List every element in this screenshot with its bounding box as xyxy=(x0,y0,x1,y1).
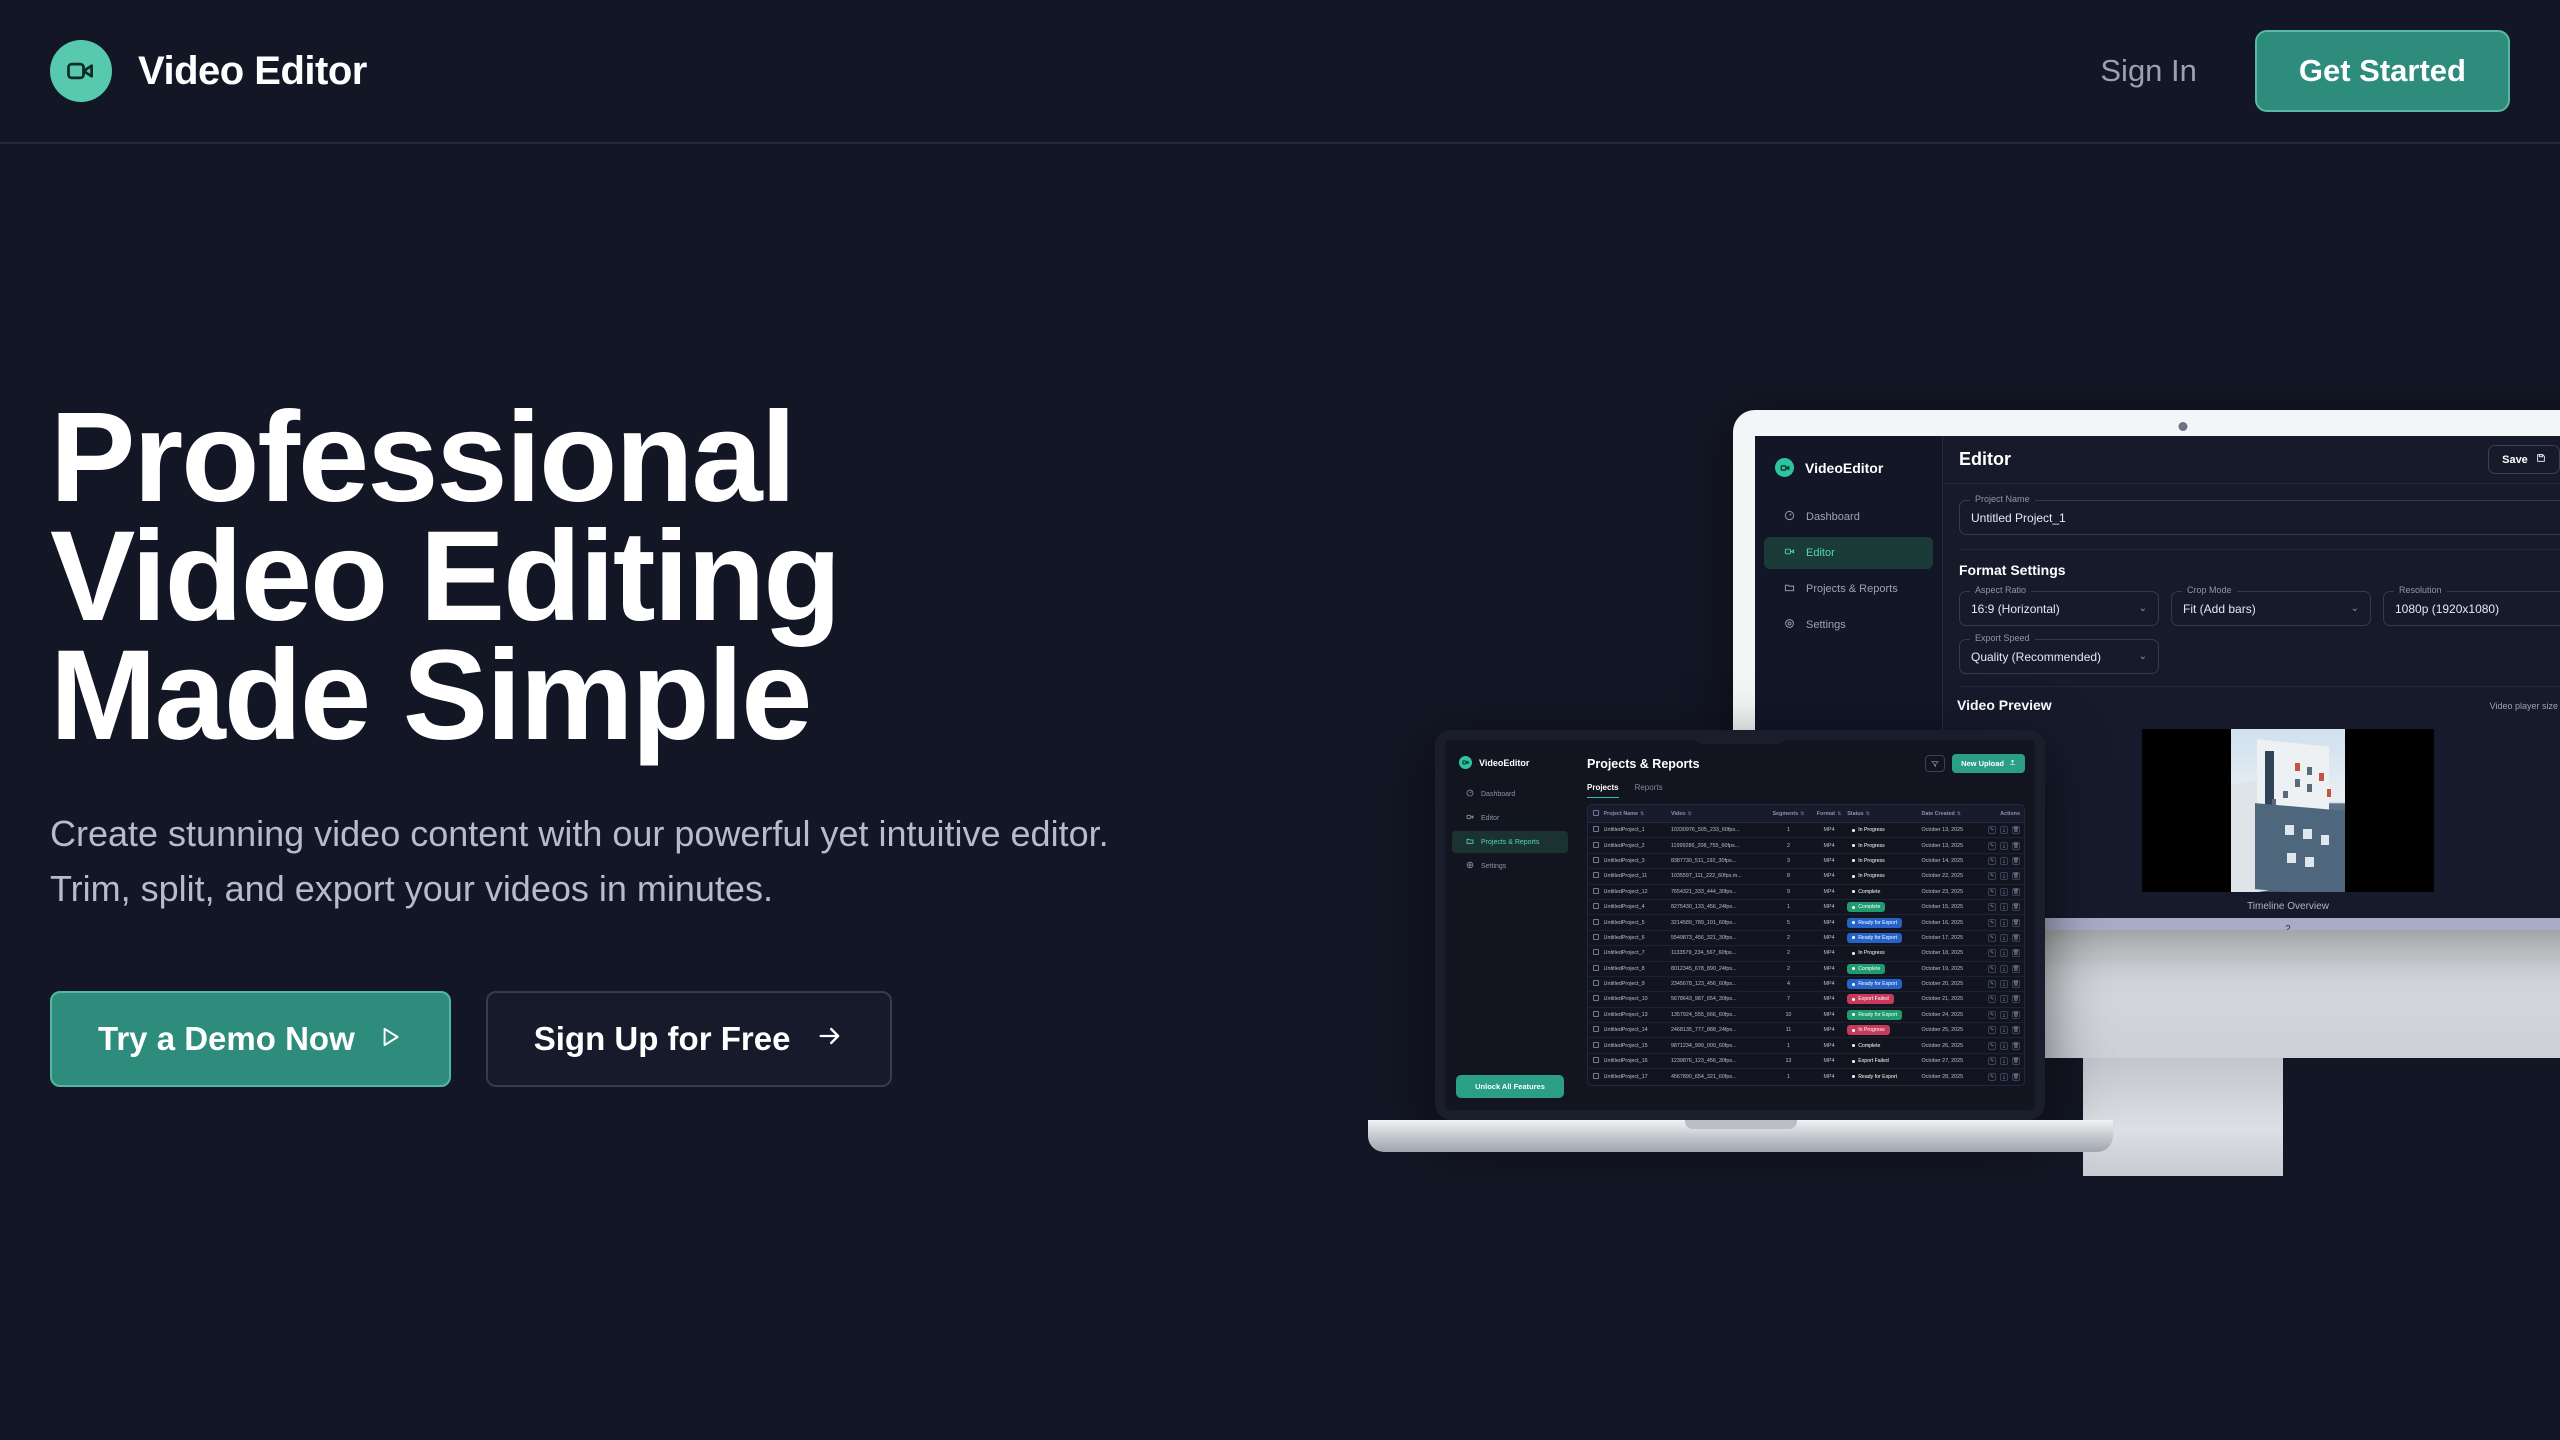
download-icon[interactable]: ⤓ xyxy=(2000,949,2008,957)
cell-segments: 10 xyxy=(1766,1012,1811,1018)
folder-icon xyxy=(1784,582,1795,596)
cell-segments: 1 xyxy=(1766,904,1811,910)
row-checkbox[interactable] xyxy=(1588,965,1604,973)
cell-format: MP4 xyxy=(1811,904,1847,910)
row-checkbox[interactable] xyxy=(1588,842,1604,850)
edit-icon[interactable]: ✎ xyxy=(1988,1026,1996,1034)
cell-project-name: UntitledProject_14 xyxy=(1604,1027,1671,1033)
aspect-ratio-value: 16:9 (Horizontal) xyxy=(1971,602,2060,616)
cell-format: MP4 xyxy=(1811,920,1847,926)
export-speed-select[interactable]: Export Speed Quality (Recommended) ⌄ xyxy=(1959,639,2159,674)
download-icon[interactable]: ⤓ xyxy=(2000,965,2008,973)
status-badge: In Progress xyxy=(1847,825,1890,835)
column-header-segments: Segments xyxy=(1772,811,1798,817)
hero-title-line-3: Made Simple xyxy=(50,636,1150,755)
edit-icon[interactable]: ✎ xyxy=(1988,965,1996,973)
brand-logo[interactable]: Video Editor xyxy=(50,40,367,102)
projects-sidebar: VideoEditor Dashboard Editor Projects & … xyxy=(1445,740,1575,1110)
cell-segments: 9 xyxy=(1766,889,1811,895)
divider xyxy=(1959,686,2560,687)
status-badge: In Progress xyxy=(1847,856,1890,866)
projects-header-actions: New Upload xyxy=(1925,754,2025,773)
status-badge: Ready for Export xyxy=(1847,1010,1902,1020)
table-row[interactable]: UntitledProject_161239876_123_456_30fps.… xyxy=(1588,1054,2024,1069)
row-checkbox[interactable] xyxy=(1588,949,1604,957)
status-badge: Ready for Export xyxy=(1847,918,1902,928)
editor-nav: Dashboard Editor Projects & Reports xyxy=(1755,501,1942,641)
cell-status: Ready for Export xyxy=(1847,1072,1921,1082)
cell-actions: ✎⤓🗑 xyxy=(1982,1042,2024,1050)
hero-actions: Try a Demo Now Sign Up for Free xyxy=(50,991,1150,1087)
download-icon[interactable]: ⤓ xyxy=(2000,826,2008,834)
edit-icon[interactable]: ✎ xyxy=(1988,826,1996,834)
get-started-button[interactable]: Get Started xyxy=(2255,30,2510,112)
column-header-project-name: Project Name xyxy=(1604,811,1638,817)
editor-page-title: Editor xyxy=(1959,449,2011,470)
unlock-all-features-button[interactable]: Unlock All Features xyxy=(1456,1075,1564,1098)
save-label: Save xyxy=(2502,454,2528,466)
projects-page-title: Projects & Reports xyxy=(1587,757,1700,771)
select-all-checkbox[interactable] xyxy=(1588,810,1604,818)
cell-project-name: UntitledProject_3 xyxy=(1604,858,1671,864)
row-checkbox[interactable] xyxy=(1588,1011,1604,1019)
sign-up-label: Sign Up for Free xyxy=(534,1020,791,1058)
status-badge: Ready for Export xyxy=(1847,979,1902,989)
timeline-overview-label: Timeline Overview xyxy=(1957,901,2560,912)
trash-icon[interactable]: 🗑 xyxy=(2012,1042,2020,1050)
cell-video: 9871234_999_000_60fps... xyxy=(1671,1043,1766,1049)
cell-status: Ready for Export xyxy=(1847,933,1921,943)
status-badge: Export Failed xyxy=(1847,994,1894,1004)
export-speed-label: Export Speed xyxy=(1970,633,2035,643)
table-row[interactable]: UntitledProject_174567890_654_321_60fps.… xyxy=(1588,1069,2024,1084)
cell-video: 3214589_789_101_60fps... xyxy=(1671,920,1766,926)
sidebar-item-editor[interactable]: Editor xyxy=(1452,807,1568,829)
sidebar-label: Settings xyxy=(1481,863,1506,870)
cell-project-name: UntitledProject_9 xyxy=(1604,981,1671,987)
cell-format: MP4 xyxy=(1811,889,1847,895)
table-row[interactable]: UntitledProject_110330976_505_233_60fps.… xyxy=(1588,823,2024,838)
trash-icon[interactable]: 🗑 xyxy=(2012,934,2020,942)
laptop-base-notch xyxy=(1685,1120,1797,1129)
editor-brand: VideoEditor xyxy=(1755,436,1942,477)
hero-title-line-1: Professional xyxy=(50,398,1150,517)
sidebar-label: Projects & Reports xyxy=(1806,583,1898,595)
cell-format: MP4 xyxy=(1811,1074,1847,1080)
cell-actions: ✎⤓🗑 xyxy=(1982,857,2024,865)
edit-icon[interactable]: ✎ xyxy=(1988,857,1996,865)
video-camera-icon xyxy=(1459,756,1472,769)
trash-icon[interactable]: 🗑 xyxy=(2012,949,2020,957)
status-badge: Export Failed xyxy=(1847,1056,1894,1066)
trash-icon[interactable]: 🗑 xyxy=(2012,857,2020,865)
cell-video: 8387730_511_192_30fps... xyxy=(1671,858,1766,864)
cell-date-created: October 13, 2025 xyxy=(1921,843,1981,849)
table-row[interactable]: UntitledProject_88012345_678_890_24fps..… xyxy=(1588,962,2024,977)
column-header-actions: Actions xyxy=(1982,811,2024,817)
download-icon[interactable]: ⤓ xyxy=(2000,934,2008,942)
player-size-slider[interactable]: Video player size xyxy=(2490,701,2560,711)
trash-icon[interactable]: 🗑 xyxy=(2012,980,2020,988)
download-icon[interactable]: ⤓ xyxy=(2000,1042,2008,1050)
cell-date-created: October 14, 2025 xyxy=(1921,858,1981,864)
project-name-value: Untitled Project_1 xyxy=(1971,511,2066,525)
edit-icon[interactable]: ✎ xyxy=(1988,888,1996,896)
cell-status: Ready for Export xyxy=(1847,979,1921,989)
cell-segments: 1 xyxy=(1766,1074,1811,1080)
cell-actions: ✎⤓🗑 xyxy=(1982,995,2024,1003)
cell-status: Complete xyxy=(1847,1041,1921,1051)
cell-date-created: October 15, 2025 xyxy=(1921,904,1981,910)
sidebar-item-projects-reports[interactable]: Projects & Reports xyxy=(1764,573,1933,605)
status-badge: Ready for Export xyxy=(1847,933,1902,943)
cell-format: MP4 xyxy=(1811,858,1847,864)
cell-segments: 2 xyxy=(1766,843,1811,849)
video-camera-icon xyxy=(50,40,112,102)
row-checkbox[interactable] xyxy=(1588,872,1604,880)
header-nav: Sign In Get Started xyxy=(2100,30,2510,112)
row-checkbox[interactable] xyxy=(1588,919,1604,927)
row-checkbox[interactable] xyxy=(1588,934,1604,942)
try-demo-button[interactable]: Try a Demo Now xyxy=(50,991,451,1087)
play-triangle-icon xyxy=(377,1020,403,1058)
status-badge: In Progress xyxy=(1847,948,1890,958)
cell-video: 1035597_111_222_60fps.m... xyxy=(1671,873,1766,879)
cell-segments: 2 xyxy=(1766,935,1811,941)
tab-reports[interactable]: Reports xyxy=(1635,783,1663,798)
cell-actions: ✎⤓🗑 xyxy=(1982,965,2024,973)
video-player[interactable] xyxy=(2142,729,2434,892)
table-row[interactable]: UntitledProject_111035597_111_222_60fps.… xyxy=(1588,869,2024,884)
projects-brand: VideoEditor xyxy=(1445,740,1575,769)
cell-date-created: October 18, 2025 xyxy=(1921,950,1981,956)
crop-mode-select[interactable]: Crop Mode Fit (Add bars) ⌄ xyxy=(2171,591,2371,626)
cell-project-name: UntitledProject_4 xyxy=(1604,904,1671,910)
sidebar-label: Editor xyxy=(1806,547,1835,559)
trash-icon[interactable]: 🗑 xyxy=(2012,1026,2020,1034)
video-frame-thumbnail xyxy=(2231,729,2345,892)
table-row[interactable]: UntitledProject_131357924_555_666_60fps.… xyxy=(1588,1008,2024,1023)
projects-table: Project Name⇅ Video⇅ Segments⇅ Format⇅ S… xyxy=(1587,804,2025,1086)
page-title: Professional Video Editing Made Simple xyxy=(50,398,1150,755)
table-row[interactable]: UntitledProject_71133579_234_567_60fps..… xyxy=(1588,946,2024,961)
column-header-video: Video xyxy=(1671,811,1686,817)
cell-date-created: October 21, 2025 xyxy=(1921,996,1981,1002)
projects-main: Projects & Reports New Upload Projects R… xyxy=(1575,740,2035,1110)
chevron-down-icon: ⌄ xyxy=(2139,651,2147,662)
cell-status: Ready for Export xyxy=(1847,1010,1921,1020)
table-row[interactable]: UntitledProject_38387730_511_192_30fps..… xyxy=(1588,854,2024,869)
row-checkbox[interactable] xyxy=(1588,826,1604,834)
cell-date-created: October 20, 2025 xyxy=(1921,981,1981,987)
cell-date-created: October 19, 2025 xyxy=(1921,966,1981,972)
cell-status: In Progress xyxy=(1847,1025,1921,1035)
cell-actions: ✎⤓🗑 xyxy=(1982,826,2024,834)
cell-video: 8275430_133_456_24fps... xyxy=(1671,904,1766,910)
laptop-mockup: VideoEditor Dashboard Editor Projects & … xyxy=(1435,730,2045,1120)
cell-actions: ✎⤓🗑 xyxy=(1982,1011,2024,1019)
arrow-right-icon xyxy=(816,1020,844,1058)
sidebar-item-projects-reports[interactable]: Projects & Reports xyxy=(1452,831,1568,853)
cell-project-name: UntitledProject_16 xyxy=(1604,1058,1671,1064)
sort-icon: ⇅ xyxy=(1837,811,1841,817)
resolution-select[interactable]: Resolution 1080p (1920x1080) ⌄ xyxy=(2383,591,2560,626)
edit-icon[interactable]: ✎ xyxy=(1988,1042,1996,1050)
column-header-format: Format xyxy=(1817,811,1835,817)
video-camera-icon xyxy=(1466,813,1474,823)
edit-icon[interactable]: ✎ xyxy=(1988,872,1996,880)
cell-date-created: October 23, 2025 xyxy=(1921,889,1981,895)
cell-date-created: October 28, 2025 xyxy=(1921,1074,1981,1080)
projects-nav: Dashboard Editor Projects & Reports Sett… xyxy=(1445,783,1575,877)
cell-segments: 8 xyxy=(1766,873,1811,879)
cell-format: MP4 xyxy=(1811,935,1847,941)
download-icon[interactable]: ⤓ xyxy=(2000,1073,2008,1081)
cell-project-name: UntitledProject_6 xyxy=(1604,935,1671,941)
trash-icon[interactable]: 🗑 xyxy=(2012,1011,2020,1019)
edit-icon[interactable]: ✎ xyxy=(1988,934,1996,942)
cell-segments: 1 xyxy=(1766,1043,1811,1049)
cell-date-created: October 25, 2025 xyxy=(1921,1027,1981,1033)
export-speed-value: Quality (Recommended) xyxy=(1971,650,2101,664)
download-icon[interactable]: ⤓ xyxy=(2000,919,2008,927)
cell-actions: ✎⤓🗑 xyxy=(1982,903,2024,911)
cell-video: 5549873_456_321_30fps... xyxy=(1671,935,1766,941)
hero-subtitle: Create stunning video content with our p… xyxy=(50,807,1130,916)
gauge-icon xyxy=(1466,789,1474,799)
cell-status: In Progress xyxy=(1847,856,1921,866)
table-row[interactable]: UntitledProject_65549873_456_321_30fps..… xyxy=(1588,931,2024,946)
download-icon[interactable]: ⤓ xyxy=(2000,888,2008,896)
sidebar-item-editor[interactable]: Editor xyxy=(1764,537,1933,569)
cell-project-name: UntitledProject_11 xyxy=(1604,873,1671,879)
cell-project-name: UntitledProject_13 xyxy=(1604,1012,1671,1018)
cell-video: 2468135_777_888_24fps... xyxy=(1671,1027,1766,1033)
table-row[interactable]: UntitledProject_48275430_133_456_24fps..… xyxy=(1588,900,2024,915)
cell-project-name: UntitledProject_5 xyxy=(1604,920,1671,926)
download-icon[interactable]: ⤓ xyxy=(2000,995,2008,1003)
download-icon[interactable]: ⤓ xyxy=(2000,980,2008,988)
trash-icon[interactable]: 🗑 xyxy=(2012,872,2020,880)
cell-date-created: October 13, 2025 xyxy=(1921,827,1981,833)
sign-in-link[interactable]: Sign In xyxy=(2100,53,2197,89)
trash-icon[interactable]: 🗑 xyxy=(2012,1057,2020,1065)
trash-icon[interactable]: 🗑 xyxy=(2012,995,2020,1003)
cell-segments: 2 xyxy=(1766,950,1811,956)
cell-project-name: UntitledProject_10 xyxy=(1604,996,1671,1002)
row-checkbox[interactable] xyxy=(1588,1073,1604,1081)
row-checkbox[interactable] xyxy=(1588,980,1604,988)
download-icon[interactable]: ⤓ xyxy=(2000,1026,2008,1034)
folder-icon xyxy=(1466,837,1474,847)
sidebar-item-dashboard[interactable]: Dashboard xyxy=(1452,783,1568,805)
editor-top-buttons: Save Exp xyxy=(2488,445,2560,474)
edit-icon[interactable]: ✎ xyxy=(1988,842,1996,850)
sidebar-label: Projects & Reports xyxy=(1481,839,1539,846)
project-name-field[interactable]: Project Name Untitled Project_1 xyxy=(1959,500,2560,535)
hero-title-line-2: Video Editing xyxy=(50,517,1150,636)
status-badge: Complete xyxy=(1847,1041,1885,1051)
cell-date-created: October 16, 2025 xyxy=(1921,920,1981,926)
row-checkbox[interactable] xyxy=(1588,1057,1604,1065)
table-row[interactable]: UntitledProject_127654321_333_444_30fps.… xyxy=(1588,885,2024,900)
monitor-stand xyxy=(2083,1058,2283,1176)
aspect-ratio-select[interactable]: Aspect Ratio 16:9 (Horizontal) ⌄ xyxy=(1959,591,2159,626)
save-button[interactable]: Save xyxy=(2488,445,2560,474)
download-icon[interactable]: ⤓ xyxy=(2000,842,2008,850)
download-icon[interactable]: ⤓ xyxy=(2000,1011,2008,1019)
download-icon[interactable]: ⤓ xyxy=(2000,1057,2008,1065)
trash-icon[interactable]: 🗑 xyxy=(2012,919,2020,927)
try-demo-label: Try a Demo Now xyxy=(98,1020,355,1058)
cell-video: 11999286_208_755_60fps... xyxy=(1671,843,1766,849)
sidebar-item-settings[interactable]: Settings xyxy=(1452,855,1568,877)
hero-section: Professional Video Editing Made Simple C… xyxy=(50,398,1150,1087)
table-row[interactable]: UntitledProject_92345678_123_456_60fps..… xyxy=(1588,977,2024,992)
crop-mode-value: Fit (Add bars) xyxy=(2183,602,2256,616)
tab-projects[interactable]: Projects xyxy=(1587,783,1619,798)
laptop-base xyxy=(1368,1120,2113,1152)
cell-actions: ✎⤓🗑 xyxy=(1982,949,2024,957)
player-size-label: Video player size xyxy=(2490,701,2558,711)
cell-status: Complete xyxy=(1847,902,1921,912)
edit-icon[interactable]: ✎ xyxy=(1988,1011,1996,1019)
cell-status: In Progress xyxy=(1847,825,1921,835)
edit-icon[interactable]: ✎ xyxy=(1988,919,1996,927)
status-badge: Complete xyxy=(1847,964,1885,974)
edit-icon[interactable]: ✎ xyxy=(1988,995,1996,1003)
sidebar-item-dashboard[interactable]: Dashboard xyxy=(1764,501,1933,533)
cell-status: In Progress xyxy=(1847,948,1921,958)
sort-icon: ⇅ xyxy=(1640,811,1644,817)
row-checkbox[interactable] xyxy=(1588,903,1604,911)
sidebar-label: Dashboard xyxy=(1806,511,1860,523)
cell-video: 2345678_123_456_60fps... xyxy=(1671,981,1766,987)
cell-video: 4567890_654_321_60fps... xyxy=(1671,1074,1766,1080)
row-checkbox[interactable] xyxy=(1588,1042,1604,1050)
cell-status: Export Failed xyxy=(1847,994,1921,1004)
cell-video: 1133579_234_567_60fps... xyxy=(1671,950,1766,956)
row-checkbox[interactable] xyxy=(1588,888,1604,896)
trash-icon[interactable]: 🗑 xyxy=(2012,965,2020,973)
trash-icon[interactable]: 🗑 xyxy=(2012,888,2020,896)
cell-actions: ✎⤓🗑 xyxy=(1982,872,2024,880)
video-preview-heading: Video Preview xyxy=(1957,697,2560,713)
edit-icon[interactable]: ✎ xyxy=(1988,1073,1996,1081)
edit-icon[interactable]: ✎ xyxy=(1988,1057,1996,1065)
cell-segments: 4 xyxy=(1766,981,1811,987)
projects-tabs: Projects Reports xyxy=(1587,783,2025,798)
filter-funnel-icon[interactable] xyxy=(1925,755,1945,772)
chevron-down-icon: ⌄ xyxy=(2351,603,2359,614)
cell-actions: ✎⤓🗑 xyxy=(1982,934,2024,942)
column-header-status: Status xyxy=(1847,811,1863,817)
cell-format: MP4 xyxy=(1811,1027,1847,1033)
table-row[interactable]: UntitledProject_105678643_987_654_30fps.… xyxy=(1588,992,2024,1007)
cell-segments: 11 xyxy=(1766,1027,1811,1033)
trash-icon[interactable]: 🗑 xyxy=(2012,1073,2020,1081)
row-checkbox[interactable] xyxy=(1588,995,1604,1003)
site-header: Video Editor Sign In Get Started xyxy=(0,0,2560,144)
trash-icon[interactable]: 🗑 xyxy=(2012,826,2020,834)
edit-icon[interactable]: ✎ xyxy=(1988,980,1996,988)
edit-icon[interactable]: ✎ xyxy=(1988,903,1996,911)
status-badge: In Progress xyxy=(1847,841,1890,851)
cell-format: MP4 xyxy=(1811,1012,1847,1018)
cell-format: MP4 xyxy=(1811,1043,1847,1049)
download-icon[interactable]: ⤓ xyxy=(2000,857,2008,865)
cell-status: Complete xyxy=(1847,964,1921,974)
cell-video: 10330976_505_233_60fps... xyxy=(1671,827,1766,833)
cell-project-name: UntitledProject_12 xyxy=(1604,889,1671,895)
sort-icon: ⇅ xyxy=(1800,811,1804,817)
cell-video: 1239876_123_456_30fps... xyxy=(1671,1058,1766,1064)
row-checkbox[interactable] xyxy=(1588,857,1604,865)
cell-project-name: UntitledProject_2 xyxy=(1604,843,1671,849)
cell-status: Ready for Export xyxy=(1847,918,1921,928)
cell-actions: ✎⤓🗑 xyxy=(1982,1026,2024,1034)
gear-icon xyxy=(1784,618,1795,632)
sidebar-label: Dashboard xyxy=(1481,791,1515,798)
cell-status: In Progress xyxy=(1847,871,1921,881)
cell-segments: 7 xyxy=(1766,996,1811,1002)
trash-icon[interactable]: 🗑 xyxy=(2012,842,2020,850)
cell-actions: ✎⤓🗑 xyxy=(1982,1073,2024,1081)
gear-icon xyxy=(1466,861,1474,871)
brand-name: Video Editor xyxy=(138,49,367,94)
table-row[interactable]: UntitledProject_211999286_208_755_60fps.… xyxy=(1588,838,2024,853)
cell-project-name: UntitledProject_8 xyxy=(1604,966,1671,972)
cell-date-created: October 22, 2025 xyxy=(1921,873,1981,879)
video-camera-icon xyxy=(1784,546,1795,560)
cell-project-name: UntitledProject_15 xyxy=(1604,1043,1671,1049)
cell-video: 5678643_987_654_30fps... xyxy=(1671,996,1766,1002)
sort-icon: ⇅ xyxy=(1866,811,1870,817)
column-header-date-created: Date Created xyxy=(1921,811,1954,817)
cell-actions: ✎⤓🗑 xyxy=(1982,919,2024,927)
resolution-label: Resolution xyxy=(2394,585,2447,595)
sign-up-free-button[interactable]: Sign Up for Free xyxy=(486,991,893,1087)
cell-actions: ✎⤓🗑 xyxy=(1982,842,2024,850)
sidebar-item-settings[interactable]: Settings xyxy=(1764,609,1933,641)
new-upload-button[interactable]: New Upload xyxy=(1952,754,2025,773)
trash-icon[interactable]: 🗑 xyxy=(2012,903,2020,911)
cell-format: MP4 xyxy=(1811,1058,1847,1064)
aspect-ratio-label: Aspect Ratio xyxy=(1970,585,2031,595)
crop-mode-label: Crop Mode xyxy=(2182,585,2237,595)
table-row[interactable]: UntitledProject_159871234_999_000_60fps.… xyxy=(1588,1038,2024,1053)
sort-icon: ⇅ xyxy=(1957,811,1961,817)
cell-segments: 13 xyxy=(1766,1058,1811,1064)
resolution-value: 1080p (1920x1080) xyxy=(2395,602,2499,616)
status-badge: Complete xyxy=(1847,902,1885,912)
table-row[interactable]: UntitledProject_53214589_789_101_60fps..… xyxy=(1588,915,2024,930)
row-checkbox[interactable] xyxy=(1588,1026,1604,1034)
project-name-label: Project Name xyxy=(1970,494,2035,504)
table-row[interactable]: UntitledProject_142468135_777_888_24fps.… xyxy=(1588,1023,2024,1038)
projects-app-screen: VideoEditor Dashboard Editor Projects & … xyxy=(1445,740,2035,1110)
download-icon[interactable]: ⤓ xyxy=(2000,872,2008,880)
projects-brand-name: VideoEditor xyxy=(1479,758,1529,768)
sort-icon: ⇅ xyxy=(1688,811,1692,817)
edit-icon[interactable]: ✎ xyxy=(1988,949,1996,957)
laptop-notch xyxy=(1694,730,1786,744)
download-icon[interactable]: ⤓ xyxy=(2000,903,2008,911)
cell-segments: 5 xyxy=(1766,920,1811,926)
cell-actions: ✎⤓🗑 xyxy=(1982,980,2024,988)
cell-date-created: October 24, 2025 xyxy=(1921,1012,1981,1018)
video-camera-icon xyxy=(1775,458,1794,477)
